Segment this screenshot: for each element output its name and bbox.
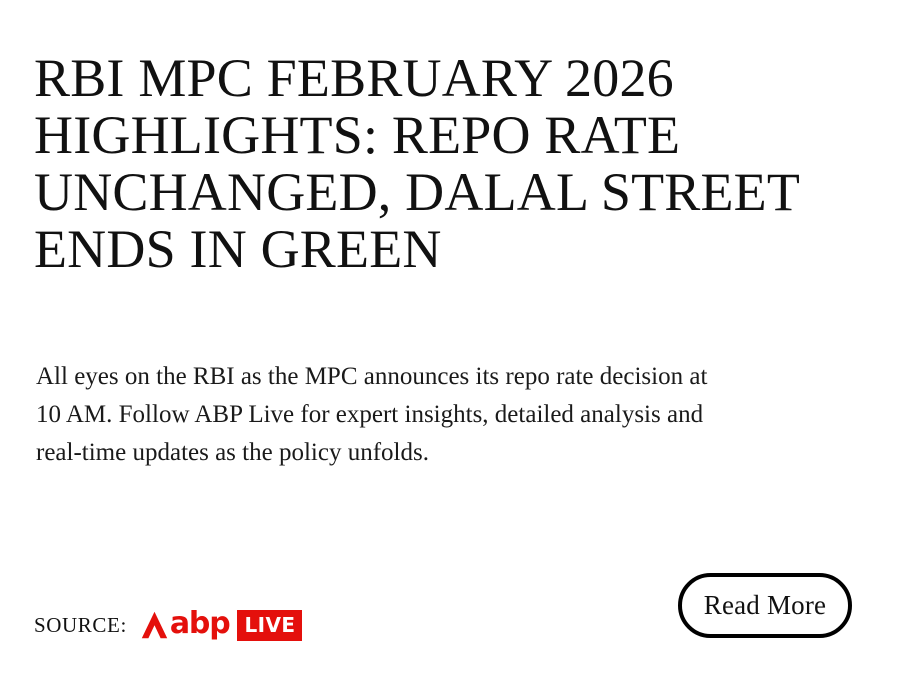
source-label: SOURCE: — [34, 615, 127, 636]
article-summary: All eyes on the RBI as the MPC announces… — [36, 358, 736, 472]
abp-live-logo: abp LIVE — [141, 610, 303, 640]
live-badge: LIVE — [237, 610, 302, 641]
abp-chevron-icon — [141, 611, 168, 639]
article-card: RBI MPC February 2026 Highlights: Repo R… — [0, 0, 912, 682]
source-attribution: SOURCE: abp LIVE — [34, 610, 302, 640]
read-more-button[interactable]: Read More — [678, 573, 852, 638]
page-title: RBI MPC February 2026 Highlights: Repo R… — [34, 50, 886, 278]
card-footer: SOURCE: abp LIVE Read More — [0, 560, 912, 660]
abp-wordmark: abp — [170, 610, 230, 638]
